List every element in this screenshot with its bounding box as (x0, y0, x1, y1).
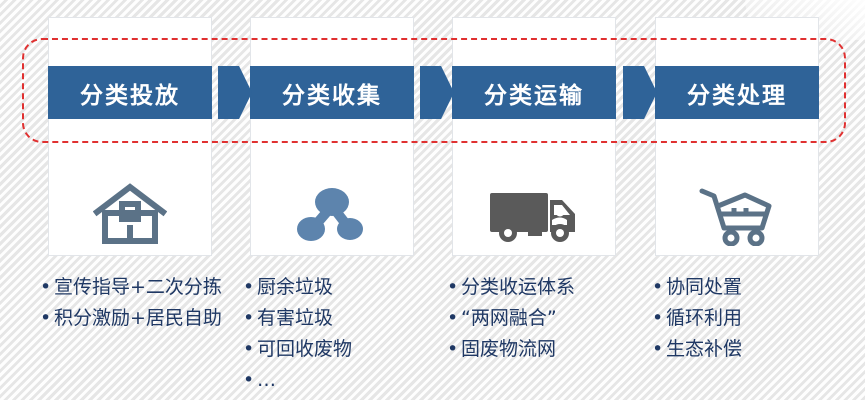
chevron-right-icon (218, 66, 252, 119)
list-item: •“两网融合” (447, 303, 637, 334)
list-item: •积分激励+居民自助 (40, 303, 230, 334)
bullet-marker: • (40, 303, 54, 334)
list-item: •分类收运体系 (447, 272, 637, 303)
list-item: •可回收废物 (243, 334, 423, 365)
list-item: •宣传指导+二次分拣 (40, 272, 230, 303)
step-icon-slot-3 (452, 170, 616, 260)
chevron-right-icon (623, 66, 657, 119)
step-title-2: 分类收集 (282, 76, 382, 110)
step-icon-slot-4 (655, 170, 819, 260)
list-item-label: 有害垃圾 (257, 307, 333, 329)
step-icon-slot-2 (250, 170, 414, 260)
house-icon (93, 182, 167, 248)
list-item: •循环利用 (652, 303, 832, 334)
step-bullets-3: •分类收运体系 •“两网融合” •固废物流网 (447, 272, 637, 365)
bullet-marker: • (243, 303, 257, 334)
list-item: •协同处置 (652, 272, 832, 303)
bullet-marker: • (447, 334, 461, 365)
shopping-cart-icon (698, 184, 776, 246)
list-item-label: 可回收废物 (257, 338, 352, 360)
bullet-marker: • (652, 334, 666, 365)
list-item-label: 厨余垃圾 (257, 276, 333, 298)
list-item-label: 积分激励+居民自助 (54, 307, 222, 329)
list-item-label: 循环利用 (666, 307, 742, 329)
bullet-marker: • (447, 272, 461, 303)
step-title-bar-2[interactable]: 分类收集 (250, 66, 414, 119)
list-item-label: 分类收运体系 (461, 276, 575, 298)
step-bullets-1: •宣传指导+二次分拣 •积分激励+居民自助 (40, 272, 230, 334)
list-item-label: … (257, 369, 276, 391)
list-item-label: 生态补偿 (666, 338, 742, 360)
list-item-label: “两网融合” (461, 307, 557, 329)
slide-canvas: 分类投放 分类收集 分类运输 分类处理 (0, 0, 865, 400)
bullet-marker: • (243, 272, 257, 303)
bullet-marker: • (243, 334, 257, 365)
step-title-4: 分类处理 (687, 76, 787, 110)
step-title-1: 分类投放 (80, 76, 180, 110)
truck-icon (488, 186, 580, 244)
step-title-bar-1[interactable]: 分类投放 (48, 66, 212, 119)
bullet-marker: • (243, 365, 257, 396)
step-bullets-2: •厨余垃圾 •有害垃圾 •可回收废物 •… (243, 272, 423, 396)
bullet-marker: • (447, 303, 461, 334)
step-icon-slot-1 (48, 170, 212, 260)
step-title-bar-3[interactable]: 分类运输 (452, 66, 616, 119)
step-bullets-4: •协同处置 •循环利用 •生态补偿 (652, 272, 832, 365)
list-item: •厨余垃圾 (243, 272, 423, 303)
bullet-marker: • (652, 272, 666, 303)
list-item-label: 协同处置 (666, 276, 742, 298)
list-item: •固废物流网 (447, 334, 637, 365)
chevron-right-icon (420, 66, 454, 119)
list-item-label: 宣传指导+二次分拣 (54, 276, 222, 298)
step-title-bar-4[interactable]: 分类处理 (655, 66, 819, 119)
bullet-marker: • (652, 303, 666, 334)
list-item: •… (243, 365, 423, 396)
bullet-marker: • (40, 272, 54, 303)
list-item: •有害垃圾 (243, 303, 423, 334)
list-item-label: 固废物流网 (461, 338, 556, 360)
network-nodes-icon (297, 184, 367, 246)
list-item: •生态补偿 (652, 334, 832, 365)
step-title-3: 分类运输 (484, 76, 584, 110)
